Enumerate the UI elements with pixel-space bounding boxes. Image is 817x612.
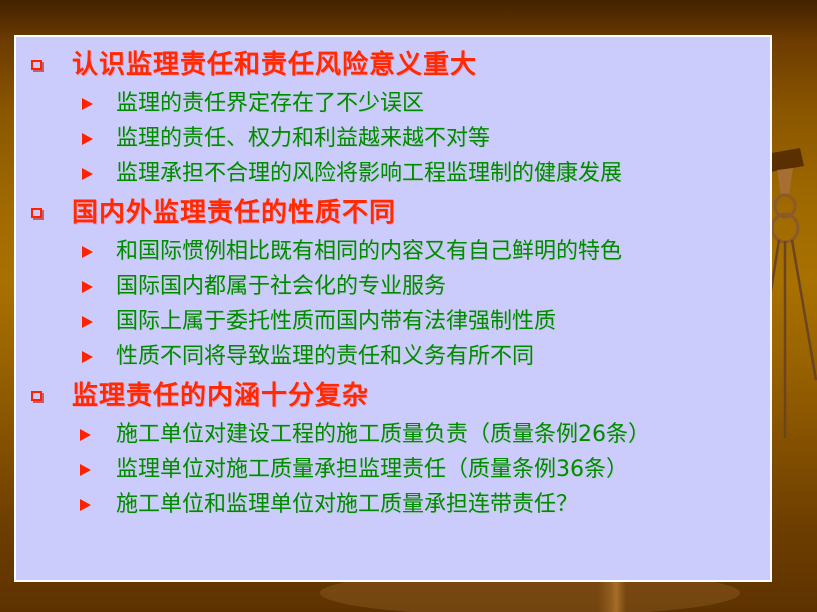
arrow-bullet-icon (20, 304, 116, 339)
outline-item-label: 监理的责任、权力和利益越来越不对等 (116, 121, 490, 156)
outline-item-label: 国际国内都属于社会化的专业服务 (116, 269, 446, 304)
outline-item[interactable]: 监理的责任、权力和利益越来越不对等 (20, 121, 766, 156)
arrow-bullet-icon (20, 156, 116, 191)
presentation-slide: 认识监理责任和责任风险意义重大 监理的责任界定存在了不少误区 监理的责任、权力和… (0, 0, 817, 612)
outline-heading[interactable]: 监理责任的内涵十分复杂 (20, 374, 766, 417)
arrow-bullet-icon (20, 269, 116, 304)
arrow-bullet-icon (20, 121, 116, 156)
arrow-bullet-icon (20, 452, 116, 487)
outline-item-label: 施工单位和监理单位对施工质量承担连带责任？ (116, 487, 578, 522)
arrow-bullet-icon (20, 339, 116, 374)
outline-item[interactable]: 监理单位对施工质量承担监理责任（质量条例36条） (20, 452, 766, 487)
outline-heading-label: 监理责任的内涵十分复杂 (72, 374, 369, 417)
arrow-bullet-icon (20, 234, 116, 269)
outline-item[interactable]: 监理承担不合理的风险将影响工程监理制的健康发展 (20, 156, 766, 191)
outline-item-label: 监理的责任界定存在了不少误区 (116, 86, 424, 121)
outline-heading-label: 国内外监理责任的性质不同 (72, 191, 396, 234)
outline-item-label: 监理承担不合理的风险将影响工程监理制的健康发展 (116, 156, 622, 191)
outline-heading[interactable]: 认识监理责任和责任风险意义重大 (20, 43, 766, 86)
outline-item[interactable]: 国际上属于委托性质而国内带有法律强制性质 (20, 304, 766, 339)
outline-heading[interactable]: 国内外监理责任的性质不同 (20, 191, 766, 234)
outline-item[interactable]: 性质不同将导致监理的责任和义务有所不同 (20, 339, 766, 374)
outline-item-label: 施工单位对建设工程的施工质量负责（质量条例26条） (116, 417, 650, 452)
square-bullet-icon (20, 191, 72, 234)
outline-item[interactable]: 国际国内都属于社会化的专业服务 (20, 269, 766, 304)
outline-item[interactable]: 施工单位和监理单位对施工质量承担连带责任？ (20, 487, 766, 522)
slide-content-box: 认识监理责任和责任风险意义重大 监理的责任界定存在了不少误区 监理的责任、权力和… (14, 35, 772, 582)
top-shading-overlay (0, 0, 817, 40)
arrow-bullet-icon (20, 417, 116, 452)
outline-item-label: 监理单位对施工质量承担监理责任（质量条例36条） (116, 452, 628, 487)
outline-item-label: 国际上属于委托性质而国内带有法律强制性质 (116, 304, 556, 339)
outline-item[interactable]: 和国际惯例相比既有相同的内容又有自己鲜明的特色 (20, 234, 766, 269)
arrow-bullet-icon (20, 86, 116, 121)
outline-item-label: 性质不同将导致监理的责任和义务有所不同 (116, 339, 534, 374)
square-bullet-icon (20, 374, 72, 417)
outline-item[interactable]: 监理的责任界定存在了不少误区 (20, 86, 766, 121)
arrow-bullet-icon (20, 487, 116, 522)
outline-item[interactable]: 施工单位对建设工程的施工质量负责（质量条例26条） (20, 417, 766, 452)
outline-list: 认识监理责任和责任风险意义重大 监理的责任界定存在了不少误区 监理的责任、权力和… (20, 43, 766, 522)
outline-item-label: 和国际惯例相比既有相同的内容又有自己鲜明的特色 (116, 234, 622, 269)
square-bullet-icon (20, 43, 72, 86)
outline-heading-label: 认识监理责任和责任风险意义重大 (72, 43, 477, 86)
